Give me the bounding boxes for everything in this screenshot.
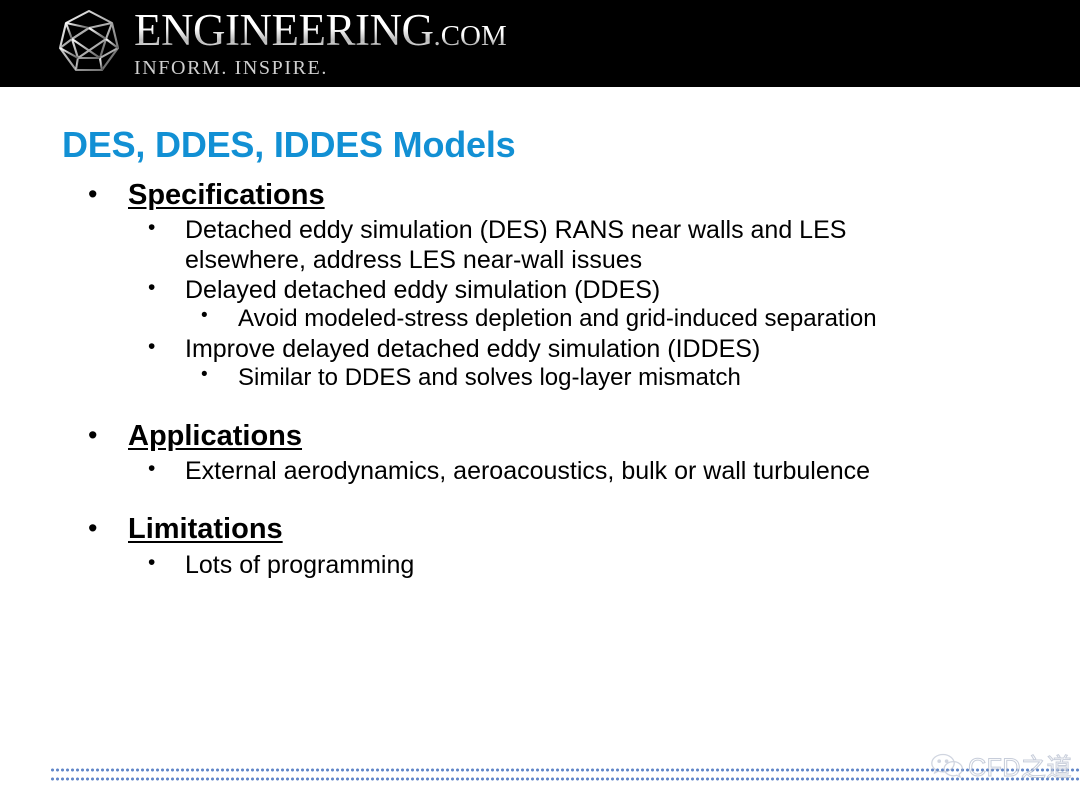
section-heading-row: •Applications — [0, 421, 1080, 451]
brand-suffix: .COM — [433, 22, 506, 51]
bullet-glyph-icon: • — [88, 421, 128, 449]
section-heading-label: Specifications — [128, 180, 325, 210]
polyhedron-wireframe-icon — [52, 6, 126, 82]
bullet-label: Avoid modeled-stress depletion and grid-… — [238, 305, 877, 334]
bullet-label: Improve delayed detached eddy simulation… — [185, 334, 760, 364]
bullet-glyph-icon: • — [88, 514, 128, 542]
brand-wordmark: ENGINEERING .COM — [134, 8, 507, 53]
brand-name: ENGINEERING — [134, 8, 433, 53]
brand-tagline: INFORM. INSPIRE. — [134, 57, 507, 80]
section-heading-row: •Limitations — [0, 514, 1080, 544]
bullet-glyph-icon: • — [201, 305, 238, 328]
brand-wordmark-group: ENGINEERING .COM INFORM. INSPIRE. — [134, 6, 507, 80]
bullet-glyph-icon: • — [148, 550, 185, 575]
bullet-row: •External aerodynamics, aeroacoustics, b… — [0, 456, 1080, 486]
bullet-glyph-icon: • — [201, 364, 238, 387]
wechat-icon — [930, 751, 964, 781]
section-heading-row: •Specifications — [0, 180, 1080, 210]
bullet-glyph-icon: • — [148, 215, 185, 240]
slide-title: DES, DDES, IDDES Models — [62, 124, 516, 166]
bullet-row: •Delayed detached eddy simulation (DDES) — [0, 275, 1080, 305]
bullet-glyph-icon: • — [148, 275, 185, 300]
footer-divider — [50, 768, 1080, 781]
bullet-row: •Lots of programming — [0, 550, 1080, 580]
bullet-row: •Similar to DDES and solves log-layer mi… — [0, 364, 1080, 393]
site-header-bar: ENGINEERING .COM INFORM. INSPIRE. — [0, 0, 1080, 87]
brand-lockup: ENGINEERING .COM INFORM. INSPIRE. — [52, 6, 507, 82]
watermark: CFD之道 — [930, 748, 1072, 784]
bullet-row: •Avoid modeled-stress depletion and grid… — [0, 305, 1080, 334]
bullet-glyph-icon: • — [148, 456, 185, 481]
section-spacer — [0, 486, 1080, 514]
divider-dot-row-top — [50, 768, 1080, 772]
section-heading-label: Limitations — [128, 514, 283, 544]
slide-content: •Specifications•Detached eddy simulation… — [0, 180, 1080, 580]
section-spacer — [0, 393, 1080, 421]
bullet-label: Delayed detached eddy simulation (DDES) — [185, 275, 660, 305]
bullet-row: •Detached eddy simulation (DES) RANS nea… — [0, 215, 1080, 275]
bullet-label: Similar to DDES and solves log-layer mis… — [238, 364, 741, 393]
section-heading-label: Applications — [128, 421, 302, 451]
divider-dot-row-bottom — [50, 777, 1080, 781]
watermark-text: CFD之道 — [968, 748, 1072, 784]
bullet-row: •Improve delayed detached eddy simulatio… — [0, 334, 1080, 364]
bullet-glyph-icon: • — [148, 334, 185, 359]
bullet-glyph-icon: • — [88, 180, 128, 208]
bullet-label: Lots of programming — [185, 550, 414, 580]
bullet-label: External aerodynamics, aeroacoustics, bu… — [185, 456, 870, 486]
bullet-label: Detached eddy simulation (DES) RANS near… — [185, 215, 925, 275]
